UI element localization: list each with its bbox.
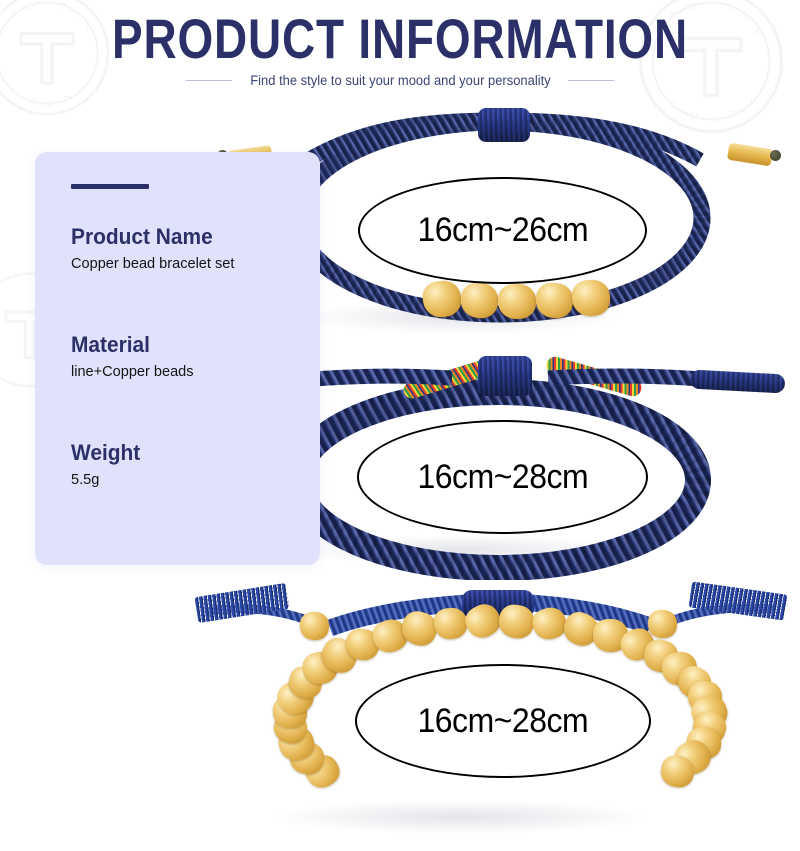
gold-bead <box>433 607 469 641</box>
end-tip-right <box>770 150 781 161</box>
spec-weight: Weight 5.5g <box>71 440 144 490</box>
product-image-gold-bead-bracelet: 16cm~28cm <box>0 560 800 851</box>
spec-material: Material line+Copper beads <box>71 332 197 382</box>
spec-product-name: Product Name Copper bead bracelet set <box>71 224 239 274</box>
product-info-panel: Product Name Copper bead bracelet set Ma… <box>35 152 320 565</box>
gold-bead <box>497 283 536 319</box>
page-subtitle: Find the style to suit your mood and you… <box>250 73 550 88</box>
spec-value: line+Copper beads <box>71 362 194 382</box>
sliding-knot <box>478 356 532 396</box>
subtitle-row: Find the style to suit your mood and you… <box>0 73 800 88</box>
product-information-page: TOU TIR TUO TI TOU TIR TUO TI PRODU <box>0 0 800 851</box>
page-header: PRODUCT INFORMATION Find the style to su… <box>0 0 800 105</box>
size-label: 16cm~28cm <box>417 458 588 497</box>
spec-value: 5.5g <box>71 470 142 490</box>
spec-label: Material <box>71 332 191 358</box>
sliding-knot <box>478 108 530 142</box>
panel-accent-bar <box>71 184 149 189</box>
gold-bead <box>497 603 536 641</box>
size-badge: 16cm~28cm <box>355 664 651 778</box>
size-label: 16cm~28cm <box>418 702 589 741</box>
spec-label: Weight <box>71 440 140 466</box>
gold-bead <box>460 282 499 319</box>
page-title: PRODUCT INFORMATION <box>72 10 728 68</box>
size-badge: 16cm~26cm <box>358 177 647 284</box>
spec-value: Copper bead bracelet set <box>71 254 234 274</box>
subtitle-rule-right <box>568 80 614 81</box>
subtitle-rule-left <box>186 80 232 81</box>
spec-label: Product Name <box>71 224 231 250</box>
gold-bead <box>529 604 569 642</box>
size-label: 16cm~26cm <box>417 211 588 250</box>
size-badge: 16cm~28cm <box>357 420 648 534</box>
